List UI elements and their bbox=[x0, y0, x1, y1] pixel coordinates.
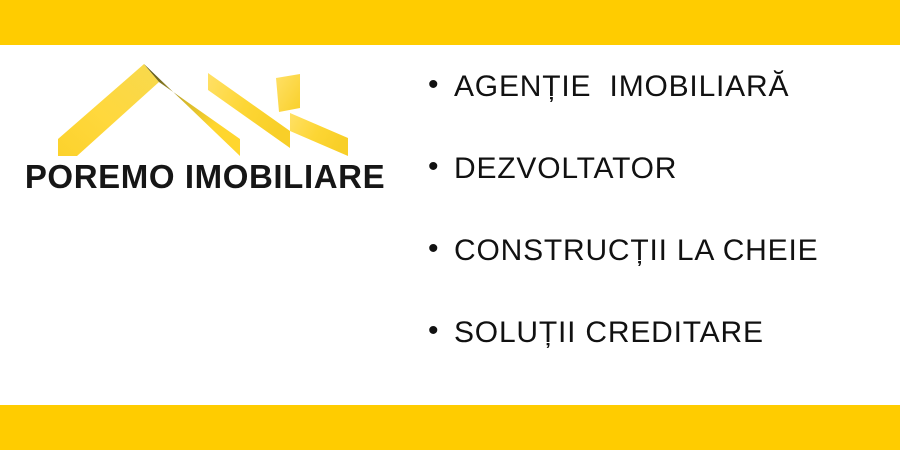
service-label-constructii-la-cheie: CONSTRUCȚII LA CHEIE bbox=[454, 236, 888, 266]
brand-block: POREMO IMOBILIARE bbox=[0, 55, 410, 205]
bullet-icon: • bbox=[428, 316, 454, 346]
brand-wordmark: POREMO IMOBILIARE bbox=[0, 158, 410, 196]
service-label-dezvoltator: DEZVOLTATOR bbox=[454, 154, 888, 184]
list-item: • DEZVOLTATOR bbox=[428, 154, 888, 236]
bullet-icon: • bbox=[428, 70, 454, 100]
list-item: • AGENȚIE IMOBILIARĂ bbox=[428, 72, 888, 154]
top-accent-band bbox=[0, 0, 900, 45]
bullet-icon: • bbox=[428, 152, 454, 182]
bottom-accent-band bbox=[0, 405, 900, 450]
services-list: • AGENȚIE IMOBILIARĂ • DEZVOLTATOR • CON… bbox=[428, 72, 888, 400]
list-item: • SOLUȚII CREDITARE bbox=[428, 318, 888, 400]
list-item: • CONSTRUCȚII LA CHEIE bbox=[428, 236, 888, 318]
bullet-icon: • bbox=[428, 234, 454, 264]
service-label-agentie-imobiliara: AGENȚIE IMOBILIARĂ bbox=[454, 72, 888, 102]
roof-chevron-logo-icon bbox=[58, 63, 348, 161]
service-label-solutii-creditare: SOLUȚII CREDITARE bbox=[454, 318, 888, 348]
promo-slide: POREMO IMOBILIARE • AGENȚIE IMOBILIARĂ •… bbox=[0, 0, 900, 450]
